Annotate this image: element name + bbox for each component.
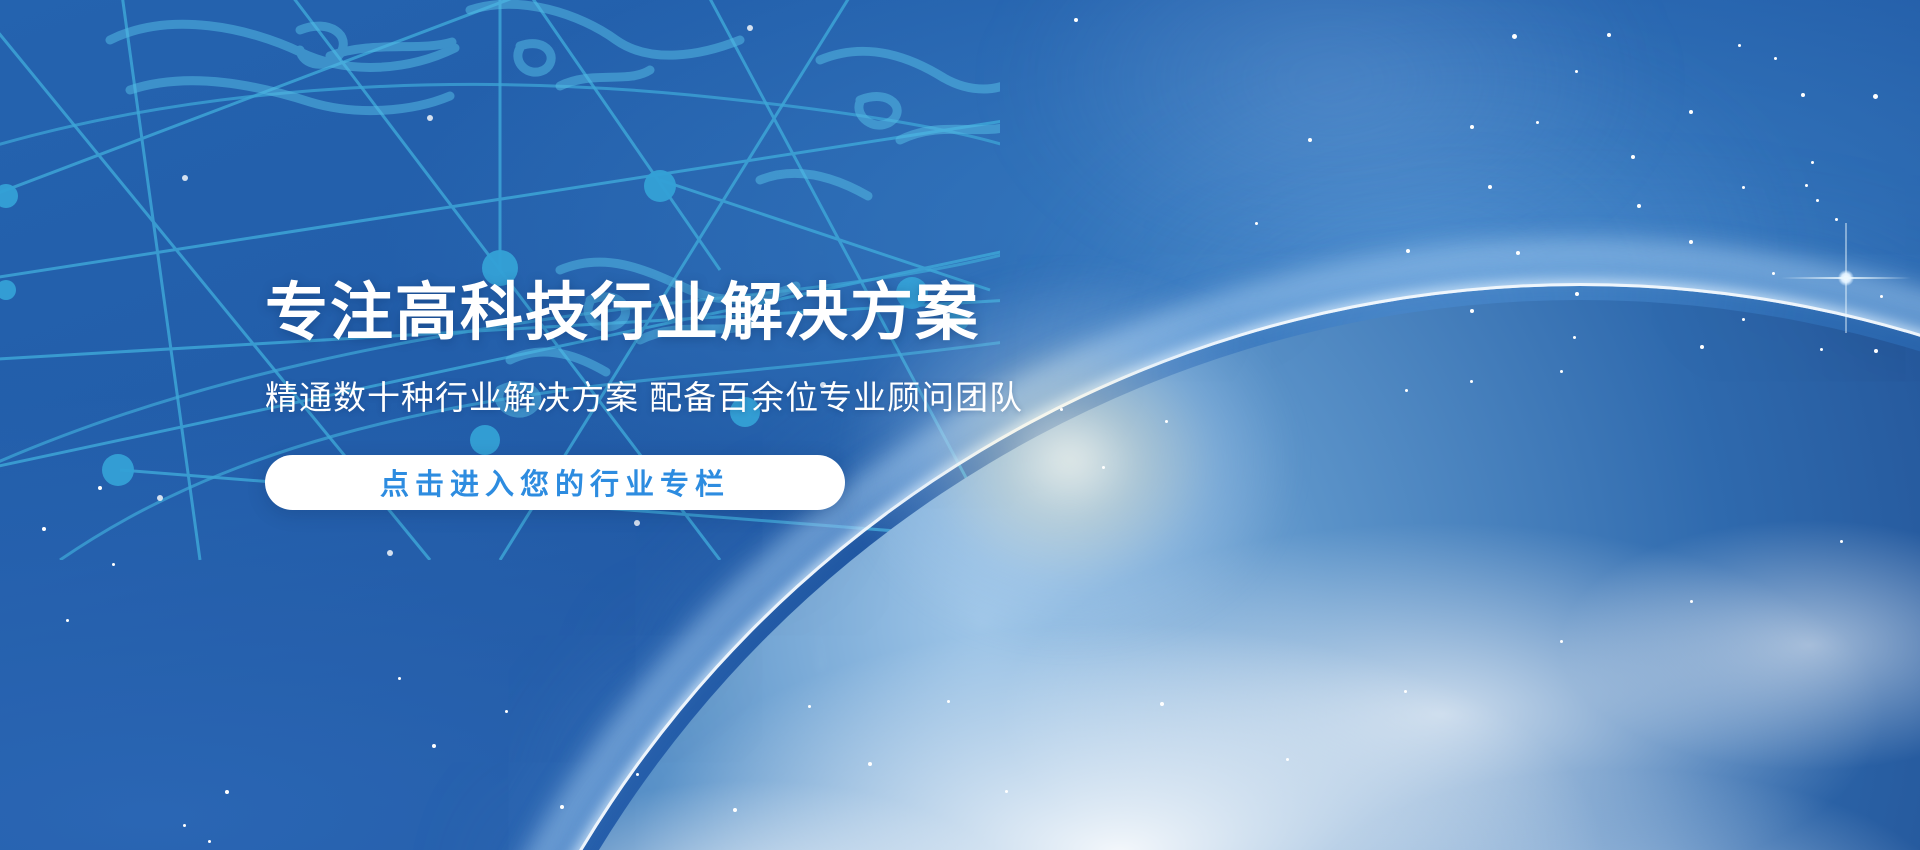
enter-industry-column-button[interactable]: 点击进入您的行业专栏 <box>265 455 845 510</box>
hero-subtitle: 精通数十种行业解决方案 配备百余位专业顾问团队 <box>265 378 1465 418</box>
hero-banner: 专注高科技行业解决方案 精通数十种行业解决方案 配备百余位专业顾问团队 点击进入… <box>0 0 1920 850</box>
page-title: 专注高科技行业解决方案 <box>265 282 1465 345</box>
hero-content: 专注高科技行业解决方案 精通数十种行业解决方案 配备百余位专业顾问团队 点击进入… <box>265 282 1465 510</box>
